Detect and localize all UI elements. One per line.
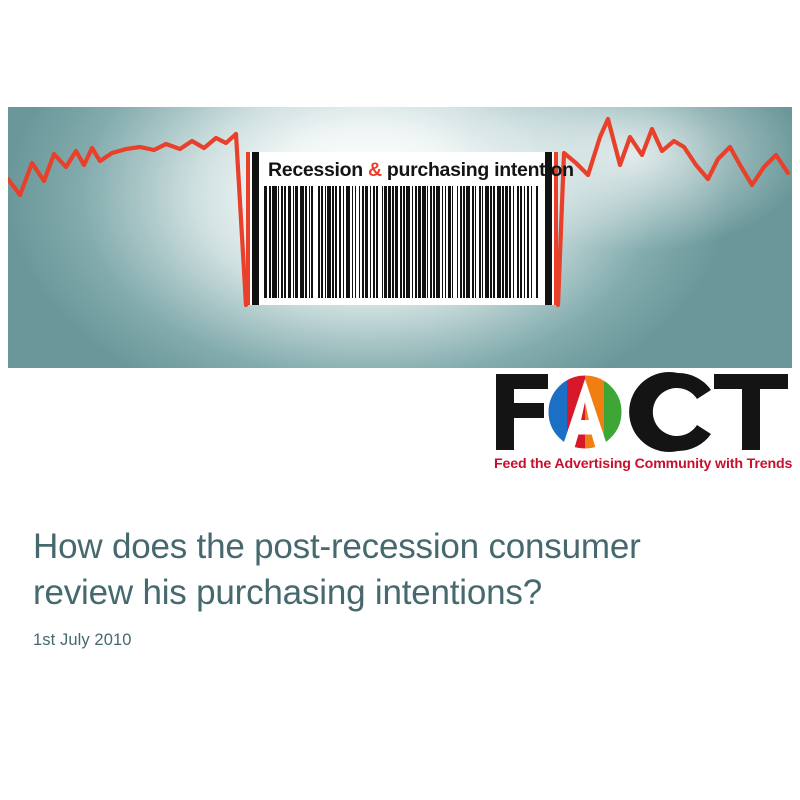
line-series-right <box>558 119 788 305</box>
line-series-left <box>8 134 236 195</box>
logo-letter-t <box>714 374 788 450</box>
page-date: 1st July 2010 <box>33 631 763 650</box>
fact-tagline: Feed the Advertising Community with Tren… <box>494 456 792 472</box>
page-title-line-1: How does the post-recession consumer <box>33 527 641 566</box>
recession-line-chart <box>8 107 792 368</box>
fact-wordmark <box>492 368 792 456</box>
line-series-left-tail <box>236 134 246 305</box>
fact-logo: Feed the Advertising Community with Tren… <box>492 368 792 480</box>
page-title: How does the post-recession consumer rev… <box>33 524 763 615</box>
logo-letter-c <box>629 372 711 452</box>
hero-banner-image: Recession & purchasing intention <box>8 107 792 368</box>
title-block: How does the post-recession consumer rev… <box>33 524 763 650</box>
logo-letter-f <box>496 374 548 450</box>
page-title-line-2: review his purchasing intentions? <box>33 573 542 612</box>
